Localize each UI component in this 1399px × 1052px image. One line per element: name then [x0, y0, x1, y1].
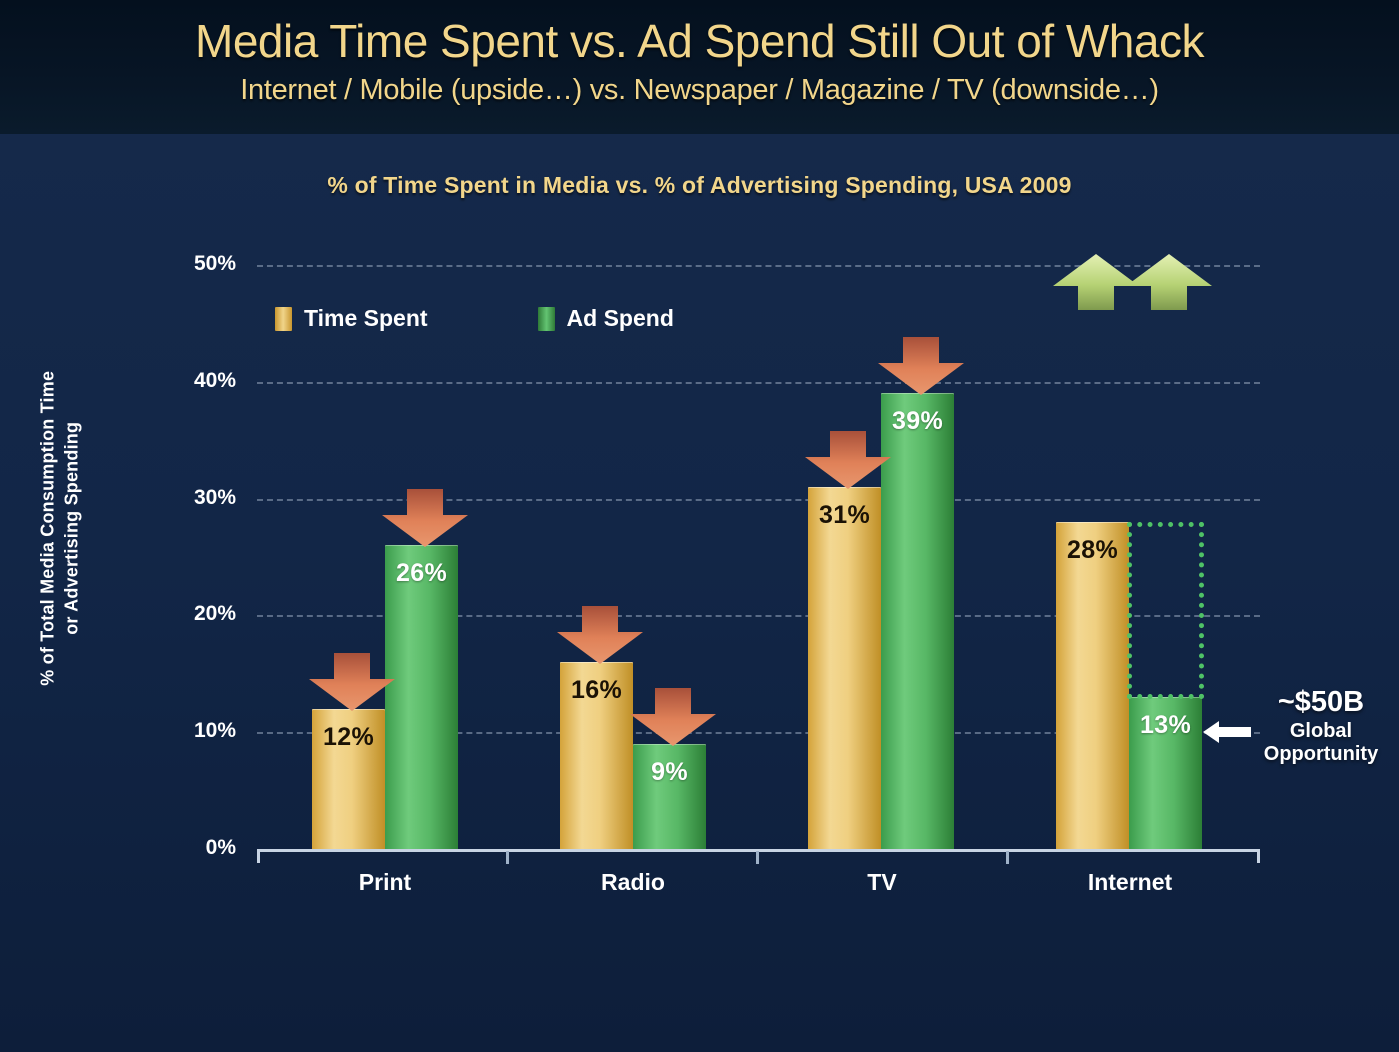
legend-swatch-gold-icon — [275, 307, 292, 331]
down-arrow-icon-radio-ad-spend — [628, 688, 718, 748]
callout-amount: ~$50B — [1243, 686, 1399, 720]
bar-tv-time-spent[interactable]: 31% — [808, 487, 881, 849]
y-tick-label-40: 40% — [116, 369, 236, 393]
page-subtitle: Internet / Mobile (upside…) vs. Newspape… — [0, 64, 1399, 105]
bar-print-time-spent[interactable]: 12% — [312, 709, 385, 849]
legend-label-time-spent: Time Spent — [304, 305, 428, 332]
legend-label-ad-spend: Ad Spend — [567, 305, 674, 332]
chart-plot-area: 50% 40% 30% 20% 10% 0% Time Spent Ad Spe… — [257, 265, 1260, 849]
page-title: Media Time Spent vs. Ad Spend Still Out … — [0, 0, 1399, 64]
legend-item-time-spent[interactable]: Time Spent — [275, 305, 428, 332]
x-axis-cap-left — [257, 849, 260, 863]
bar-value-print-time-spent: 12% — [312, 723, 385, 752]
up-arrow-icon-internet-ad-spend — [1124, 254, 1214, 312]
bar-value-radio-ad-spend: 9% — [633, 758, 706, 787]
y-axis-title-line2: or Advertising Spending — [62, 422, 82, 635]
bar-value-print-ad-spend: 26% — [385, 559, 458, 588]
y-tick-label-20: 20% — [116, 602, 236, 626]
x-axis-tick-3 — [1006, 851, 1009, 864]
callout-line-2: Global — [1243, 720, 1399, 743]
x-axis-tick-1 — [506, 851, 509, 864]
x-category-label-radio: Radio — [508, 869, 758, 896]
opportunity-gap-box — [1127, 522, 1204, 699]
x-axis-cap-right — [1257, 849, 1260, 863]
bar-internet-time-spent[interactable]: 28% — [1056, 522, 1129, 849]
down-arrow-icon-radio-time-spent — [555, 606, 645, 666]
y-tick-label-0: 0% — [116, 836, 236, 860]
y-axis-title-line1: % of Total Media Consumption Time — [38, 371, 58, 686]
x-axis-tick-2 — [756, 851, 759, 864]
bar-value-radio-time-spent: 16% — [560, 676, 633, 705]
down-arrow-icon-tv-ad-spend — [876, 337, 966, 397]
slide-header-band: Media Time Spent vs. Ad Spend Still Out … — [0, 0, 1399, 134]
callout-line-3: Opportunity — [1243, 743, 1399, 766]
chart-title: % of Time Spent in Media vs. % of Advert… — [0, 172, 1399, 199]
x-category-label-tv: TV — [757, 869, 1007, 896]
y-axis-title: % of Total Media Consumption Time or Adv… — [36, 318, 85, 738]
bar-value-internet-time-spent: 28% — [1056, 536, 1129, 565]
y-tick-label-50: 50% — [116, 252, 236, 276]
down-arrow-icon-print-ad-spend — [380, 489, 470, 549]
legend-swatch-green-icon — [538, 307, 555, 331]
bar-value-internet-ad-spend: 13% — [1129, 711, 1202, 740]
bar-radio-time-spent[interactable]: 16% — [560, 662, 633, 849]
x-category-label-print: Print — [260, 869, 510, 896]
x-category-label-internet: Internet — [1005, 869, 1255, 896]
bar-internet-ad-spend[interactable]: 13% — [1129, 697, 1202, 849]
bar-value-tv-time-spent: 31% — [808, 501, 881, 530]
down-arrow-icon-print-time-spent — [307, 653, 397, 713]
bar-radio-ad-spend[interactable]: 9% — [633, 744, 706, 849]
chart-legend: Time Spent Ad Spend — [275, 305, 674, 332]
down-arrow-icon-tv-time-spent — [803, 431, 893, 491]
opportunity-callout: ~$50B Global Opportunity — [1243, 686, 1399, 766]
slide-body: % of Time Spent in Media vs. % of Advert… — [0, 134, 1399, 1052]
y-tick-label-10: 10% — [116, 719, 236, 743]
gridline-40 — [257, 382, 1260, 384]
legend-item-ad-spend[interactable]: Ad Spend — [538, 305, 674, 332]
y-tick-label-30: 30% — [116, 486, 236, 510]
